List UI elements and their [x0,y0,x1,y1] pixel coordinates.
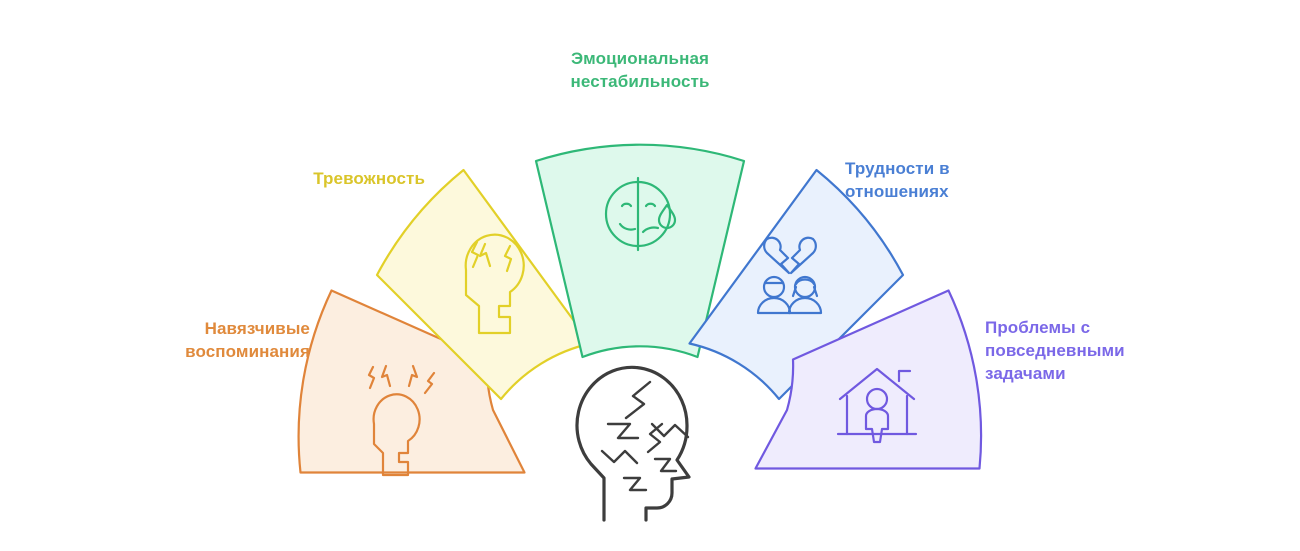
label-relationship-difficulties: Трудности в отношениях [845,158,1045,204]
label-intrusive-memories: Навязчивые воспоминания [110,318,310,364]
label-emotional-instability: Эмоциональная нестабильность [530,48,750,94]
infographic-container: Эмоциональная нестабильность Тревожность… [0,0,1300,546]
label-daily-task-problems: Проблемы с повседневными задачами [985,317,1205,386]
head-with-chaotic-thoughts-icon [577,367,689,520]
thought-zigzag-lines [602,382,688,490]
center-head-icon-group [577,367,689,520]
label-anxiety: Тревожность [215,168,425,191]
